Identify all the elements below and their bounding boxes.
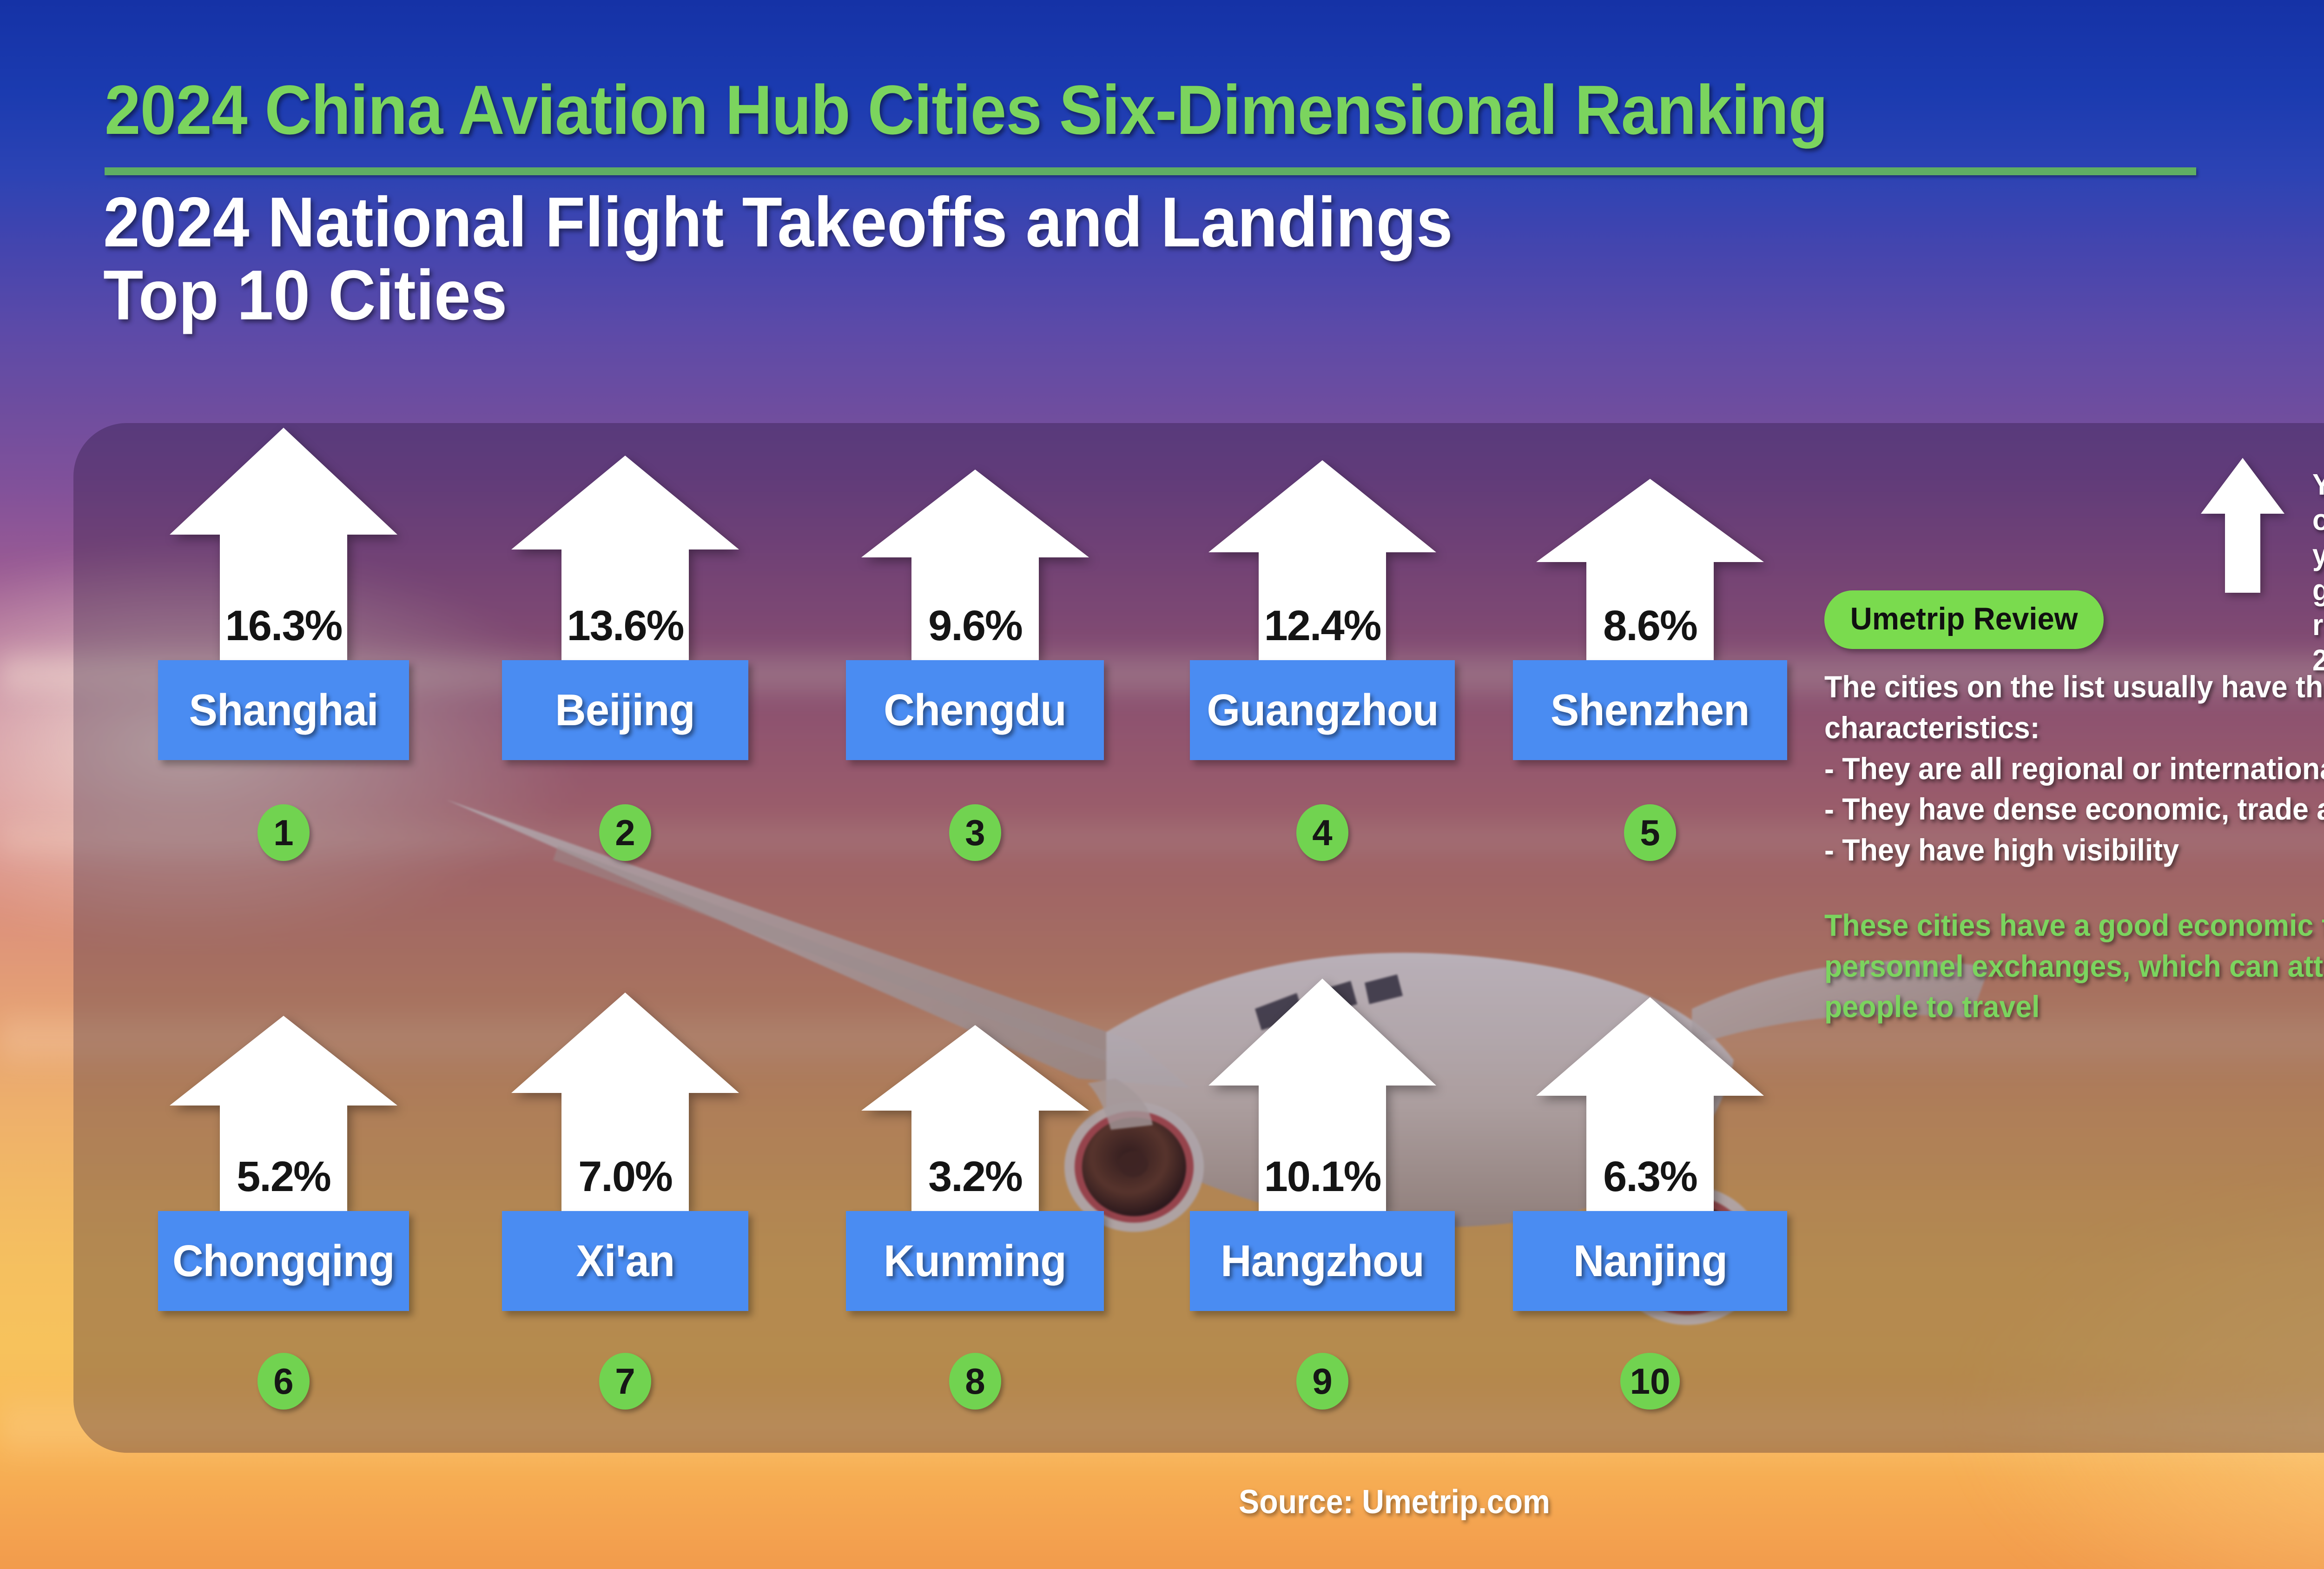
city-name-box[interactable]: Shenzhen [1513, 660, 1787, 760]
city-name-box[interactable]: Chengdu [846, 660, 1104, 760]
growth-rate-label: 7.0% [511, 1152, 739, 1201]
rank-badge: 2 [599, 804, 651, 861]
city-name-label: Beijing [555, 685, 695, 736]
review-panel: Umetrip Review The cities on the list us… [1824, 590, 2324, 1027]
city-name-box[interactable]: Chongqing [158, 1211, 409, 1311]
rank-badge: 6 [257, 1353, 310, 1410]
growth-rate-label: 8.6% [1536, 602, 1764, 650]
rank-badge: 9 [1296, 1353, 1348, 1410]
growth-rate-label: 3.2% [861, 1152, 1089, 1201]
growth-rate-label: 13.6% [511, 602, 739, 650]
city-name-label: Hangzhou [1221, 1236, 1424, 1287]
growth-rate-label: 12.4% [1208, 602, 1436, 650]
rank-badge: 3 [949, 804, 1001, 861]
rank-badge: 1 [257, 804, 310, 861]
growth-rate-label: 6.3% [1536, 1152, 1764, 1201]
review-highlight-text: These cities have a good economic founda… [1824, 905, 2324, 1027]
source-attribution: Source: Umetrip.com [112, 1483, 2324, 1521]
rank-badge: 5 [1624, 804, 1676, 861]
rank-badge: 8 [949, 1353, 1001, 1410]
growth-rate-label: 5.2% [170, 1152, 397, 1201]
rank-badge: 4 [1296, 804, 1348, 861]
city-name-box[interactable]: Hangzhou [1190, 1211, 1455, 1311]
city-name-label: Shanghai [189, 685, 378, 736]
city-name-box[interactable]: Beijing [502, 660, 748, 760]
city-name-box[interactable]: Kunming [846, 1211, 1104, 1311]
review-body-text: The cities on the list usually have the … [1824, 667, 2324, 871]
title-underline-rule [105, 167, 2196, 175]
city-name-label: Chengdu [884, 685, 1066, 736]
city-name-label: Shenzhen [1551, 685, 1750, 736]
city-name-label: Guangzhou [1207, 685, 1438, 736]
page-subtitle: 2024 National Flight Takeoffs and Landin… [103, 186, 1453, 331]
up-arrow-icon [2201, 458, 2284, 593]
growth-rate-label: 10.1% [1208, 1152, 1436, 1201]
city-name-box[interactable]: Xi'an [502, 1211, 748, 1311]
city-name-box[interactable]: Nanjing [1513, 1211, 1787, 1311]
rank-badge: 10 [1620, 1353, 1680, 1410]
city-name-label: Kunming [884, 1236, 1066, 1287]
growth-rate-label: 9.6% [861, 602, 1089, 650]
city-name-box[interactable]: Guangzhou [1190, 660, 1455, 760]
growth-rate-label: 16.3% [170, 602, 397, 650]
city-name-label: Xi'an [576, 1236, 674, 1287]
review-badge: Umetrip Review [1824, 590, 2104, 649]
city-name-label: Nanjing [1573, 1236, 1727, 1287]
city-name-label: Chongqing [172, 1236, 395, 1287]
page-title: 2024 China Aviation Hub Cities Six-Dimen… [105, 70, 1828, 150]
city-name-box[interactable]: Shanghai [158, 660, 409, 760]
rank-badge: 7 [599, 1353, 651, 1410]
